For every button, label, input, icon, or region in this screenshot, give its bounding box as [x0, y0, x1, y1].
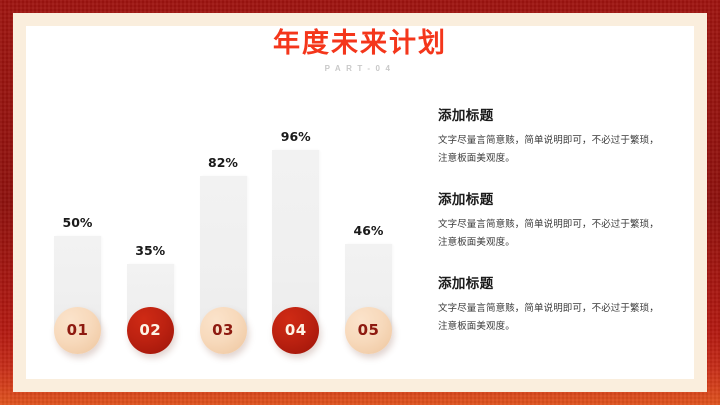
description-item-body: 文字尽量言简意赅，简单说明即可，不必过于繁琐，注意板面美观度。: [438, 132, 664, 167]
description-list: 添加标题文字尽量言简意赅，简单说明即可，不必过于繁琐，注意板面美观度。添加标题文…: [438, 104, 664, 335]
bar-badge-03[interactable]: 03: [200, 307, 247, 354]
bar-chart-bars: 50%35%82%96%46%: [38, 115, 408, 330]
badge-slot: 05: [345, 307, 392, 354]
slide: 年度未来计划 PART-04 50%35%82%96%46% 010203040…: [0, 0, 720, 405]
bar-column[interactable]: 96%: [272, 129, 319, 330]
bar-badge-02[interactable]: 02: [127, 307, 174, 354]
bar-chart-badges: 0102030405: [38, 306, 408, 354]
description-item-title: 添加标题: [438, 104, 664, 124]
badge-slot: 02: [127, 307, 174, 354]
page-subtitle: PART-04: [26, 64, 694, 73]
page-title: 年度未来计划: [26, 28, 694, 59]
bar-badge-05[interactable]: 05: [345, 307, 392, 354]
bar-value-label: 35%: [135, 243, 165, 258]
description-item: 添加标题文字尽量言简意赅，简单说明即可，不必过于繁琐，注意板面美观度。: [438, 272, 664, 335]
description-item: 添加标题文字尽量言简意赅，简单说明即可，不必过于繁琐，注意板面美观度。: [438, 104, 664, 167]
bar-badge-04[interactable]: 04: [272, 307, 319, 354]
title-block: 年度未来计划 PART-04: [26, 28, 694, 73]
bar-column[interactable]: 82%: [200, 155, 247, 330]
description-item-body: 文字尽量言简意赅，简单说明即可，不必过于繁琐，注意板面美观度。: [438, 300, 664, 335]
bar-badge-01[interactable]: 01: [54, 307, 101, 354]
bar-value-label: 46%: [354, 223, 384, 238]
description-item-title: 添加标题: [438, 188, 664, 208]
bar-value-label: 50%: [63, 215, 93, 230]
slide-content-area: 年度未来计划 PART-04 50%35%82%96%46% 010203040…: [26, 26, 694, 379]
description-item: 添加标题文字尽量言简意赅，简单说明即可，不必过于繁琐，注意板面美观度。: [438, 188, 664, 251]
bar-value-label: 96%: [281, 129, 311, 144]
description-item-body: 文字尽量言简意赅，简单说明即可，不必过于繁琐，注意板面美观度。: [438, 216, 664, 251]
badge-slot: 03: [200, 307, 247, 354]
bar-rect[interactable]: [272, 150, 319, 330]
badge-slot: 01: [54, 307, 101, 354]
bar-value-label: 82%: [208, 155, 238, 170]
description-item-title: 添加标题: [438, 272, 664, 292]
bar-chart: 50%35%82%96%46% 0102030405: [38, 86, 408, 374]
badge-slot: 04: [272, 307, 319, 354]
